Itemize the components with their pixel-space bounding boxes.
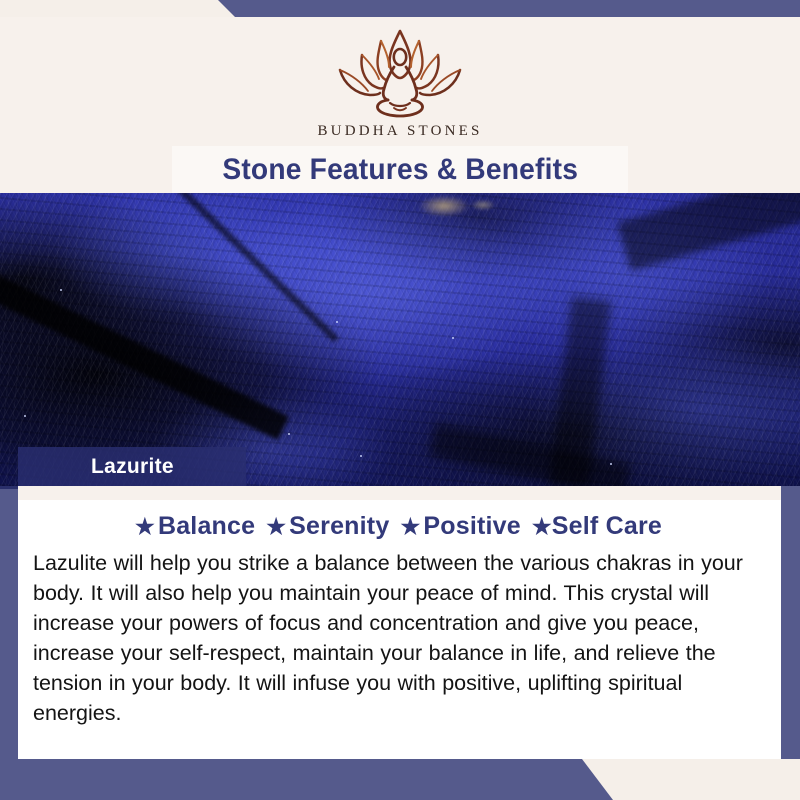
lotus-meditation-icon bbox=[320, 23, 480, 121]
brand-name: BUDDHA STONES bbox=[317, 123, 482, 140]
benefits-list: ★Balance★Serenity★Positive★Self Care bbox=[18, 512, 781, 541]
benefit-label-self-care: Self Care bbox=[552, 512, 662, 540]
stone-pyrite-speck bbox=[336, 321, 338, 323]
benefit-label-serenity: Serenity bbox=[289, 512, 389, 540]
benefit-label-balance: Balance bbox=[158, 512, 255, 540]
stone-ochre-inclusion bbox=[470, 199, 496, 211]
stone-ochre-inclusion bbox=[418, 195, 470, 217]
stone-pyrite-speck bbox=[288, 433, 290, 435]
stone-pyrite-speck bbox=[452, 337, 454, 339]
stone-photo bbox=[0, 193, 800, 486]
content-top-strip bbox=[18, 486, 781, 500]
star-icon: ★ bbox=[532, 514, 552, 539]
stone-pyrite-speck bbox=[360, 455, 362, 457]
page-title: Stone Features & Benefits bbox=[222, 153, 578, 187]
content-panel: ★Balance★Serenity★Positive★Self Care Laz… bbox=[18, 486, 781, 759]
brand-logo: BUDDHA STONES bbox=[317, 23, 482, 140]
stone-pyrite-speck bbox=[610, 463, 612, 465]
stone-description: Lazulite will help you strike a balance … bbox=[33, 548, 759, 728]
page-title-box: Stone Features & Benefits bbox=[172, 146, 628, 193]
stone-pyrite-speck bbox=[24, 415, 26, 417]
star-icon: ★ bbox=[266, 514, 286, 539]
stone-name-label: Lazurite bbox=[91, 455, 174, 479]
accent-bar-bottom bbox=[0, 759, 800, 800]
accent-bar-left-lower bbox=[0, 489, 18, 759]
star-icon: ★ bbox=[400, 514, 420, 539]
benefit-label-positive: Positive bbox=[423, 512, 520, 540]
stone-name-banner: Lazurite bbox=[18, 447, 246, 486]
star-icon: ★ bbox=[135, 514, 155, 539]
accent-bar-right-lower bbox=[781, 486, 800, 759]
accent-bar-top-right bbox=[218, 0, 800, 17]
stone-pyrite-speck bbox=[60, 289, 62, 291]
